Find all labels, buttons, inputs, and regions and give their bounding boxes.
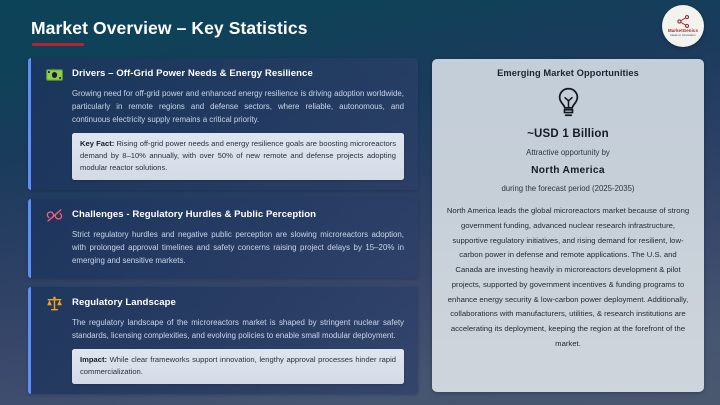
insight-cards-column: Drivers – Off-Grid Power Needs & Energy … (28, 58, 418, 403)
callout-text: Rising off-grid power needs and energy r… (80, 139, 396, 172)
card-header: Regulatory Landscape (46, 296, 406, 312)
lightbulb-icon (445, 87, 691, 121)
card-regulatory-landscape: Regulatory Landscape The regulatory land… (28, 287, 418, 395)
card-title: Drivers – Off-Grid Power Needs & Energy … (72, 67, 313, 80)
card-title: Challenges - Regulatory Hurdles & Public… (72, 208, 316, 221)
panel-forecast-period: during the forecast period (2025-2035) (445, 184, 691, 193)
panel-region: North America (445, 165, 691, 176)
callout-label: Key Fact: (80, 139, 114, 148)
share-node-icon (676, 15, 691, 28)
panel-subtitle-opportunity: Attractive opportunity by (445, 148, 691, 157)
slide-canvas: Market Overview – Key Statistics MarketG… (0, 0, 720, 405)
card-header: Challenges - Regulatory Hurdles & Public… (46, 208, 406, 224)
emerging-opportunities-panel: Emerging Market Opportunities ~USD 1 Bil… (432, 59, 704, 392)
page-title: Market Overview – Key Statistics (31, 18, 308, 39)
balance-scales-icon (46, 295, 63, 312)
card-drivers: Drivers – Off-Grid Power Needs & Energy … (28, 58, 418, 190)
card-body: Strict regulatory hurdles and negative p… (72, 229, 404, 267)
callout-label: Impact: (80, 355, 107, 364)
card-body: Growing need for off-grid power and enha… (72, 88, 404, 126)
card-header: Drivers – Off-Grid Power Needs & Energy … (46, 67, 406, 83)
panel-description: North America leads the global microreac… (445, 204, 691, 352)
callout-text: While clear frameworks support innovatio… (80, 355, 396, 376)
card-challenges: Challenges - Regulatory Hurdles & Public… (28, 199, 418, 277)
logo-tagline: Ideas to Innovation (670, 34, 695, 37)
card-body: The regulatory landscape of the microrea… (72, 317, 404, 343)
money-banknote-icon (46, 66, 63, 83)
company-logo: MarketGenics Ideas to Innovation (662, 5, 704, 47)
impact-callout: Impact: While clear frameworks support i… (72, 349, 404, 384)
panel-title: Emerging Market Opportunities (445, 68, 691, 78)
card-title: Regulatory Landscape (72, 296, 176, 309)
slide-header: Market Overview – Key Statistics (0, 0, 720, 55)
title-underline (32, 43, 84, 46)
key-fact-callout: Key Fact: Rising off-grid power needs an… (72, 133, 404, 180)
panel-market-value: ~USD 1 Billion (445, 128, 691, 140)
broken-link-icon (46, 207, 63, 224)
